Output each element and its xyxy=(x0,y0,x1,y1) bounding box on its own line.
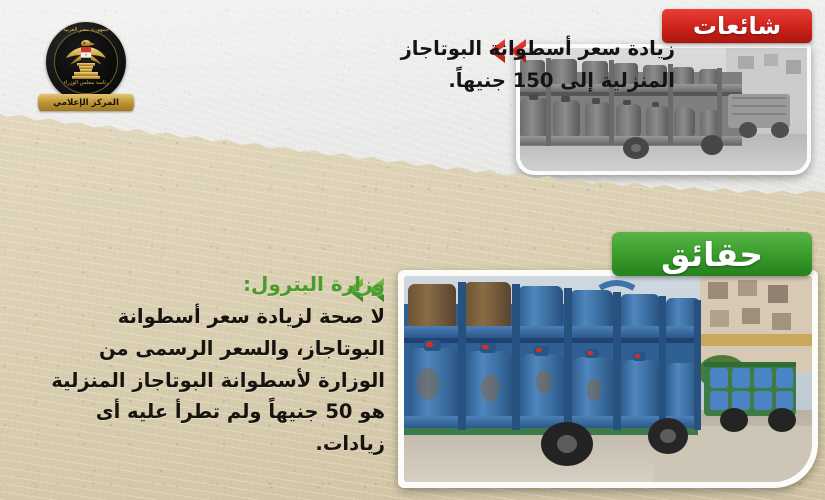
status-badge-rumors: شائعات xyxy=(662,9,812,43)
fact-statement-text: لا صحة لزيادة سعر أسطوانة البوتاجاز، وال… xyxy=(33,301,385,460)
fact-text-block: وزارة البترول: لا صحة لزيادة سعر أسطوانة… xyxy=(33,271,385,460)
fact-source-label: وزارة البترول: xyxy=(33,271,385,298)
infographic-poster: شائعات زيادة سعر أسطوانة البوتاجاز المنز… xyxy=(0,0,825,500)
logo-arc-bottom-text: رئاسة مجلس الوزراء xyxy=(46,80,126,86)
badge-facts-label: حقائق xyxy=(661,235,763,274)
fact-photo-frame xyxy=(398,270,818,488)
rumor-statement-text: زيادة سعر أسطوانة البوتاجاز المنزلية إلى… xyxy=(345,33,675,96)
fact-photo xyxy=(404,276,812,482)
status-badge-facts: حقائق xyxy=(612,232,812,276)
logo-banner: المركز الإعلامي xyxy=(38,94,134,111)
cabinet-media-center-logo: جمهورية مصر العربية رئاسة مجلس الوزراء xyxy=(38,22,134,114)
badge-rumors-label: شائعات xyxy=(693,12,781,40)
logo-banner-label: المركز الإعلامي xyxy=(53,98,119,108)
eagle-of-saladin-icon xyxy=(64,38,108,80)
logo-arc-top-text: جمهورية مصر العربية xyxy=(46,27,126,33)
